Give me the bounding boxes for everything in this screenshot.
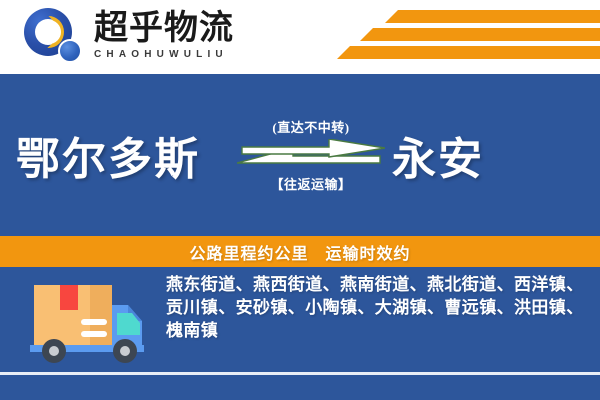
header-stripe-decoration: [330, 8, 600, 64]
logo-accent-dot: [58, 39, 82, 63]
delivery-truck-icon: [24, 275, 154, 363]
logistics-route-banner: 超乎物流 CHAOHUWULIU 鄂尔多斯 (直达不中转) 【往返运输】 永安: [0, 0, 600, 400]
header-stripe-3: [337, 46, 600, 59]
coverage-section: 燕东街道、燕西街道、燕南街道、燕北街道、西洋镇、贡川镇、安砂镇、小陶镇、大湖镇、…: [0, 267, 600, 372]
route-direction-block: (直达不中转) 【往返运输】: [236, 107, 386, 203]
route-note-roundtrip: 【往返运输】: [270, 174, 351, 193]
footer-strip: [0, 375, 600, 400]
logo-crescent-cutout: [37, 20, 61, 44]
brand-name-cn: 超乎物流: [94, 12, 234, 47]
banner-header: 超乎物流 CHAOHUWULIU: [0, 0, 600, 72]
destination-city-label: 永安: [392, 123, 484, 187]
header-stripe-1: [385, 10, 600, 23]
header-stripe-2: [360, 28, 600, 41]
double-headed-arrow-icon: [237, 139, 385, 171]
brand-logo-block: 超乎物流 CHAOHUWULIU: [22, 6, 234, 66]
route-note-direct: (直达不中转): [272, 117, 349, 136]
origin-city-label: 鄂尔多斯: [16, 123, 200, 187]
brand-name-en: CHAOHUWULIU: [94, 49, 234, 60]
coverage-districts-text: 燕东街道、燕西街道、燕南街道、燕北街道、西洋镇、贡川镇、安砂镇、小陶镇、大湖镇、…: [166, 273, 590, 342]
brand-text-block: 超乎物流 CHAOHUWULIU: [94, 12, 234, 61]
route-section: 鄂尔多斯 (直达不中转) 【往返运输】 永安: [0, 74, 600, 236]
distance-duration-bar: 公路里程约公里 运输时效约: [0, 236, 600, 267]
circle-crescent-logo-icon: [22, 6, 84, 66]
distance-duration-text: 公路里程约公里 运输时效约: [189, 240, 410, 264]
